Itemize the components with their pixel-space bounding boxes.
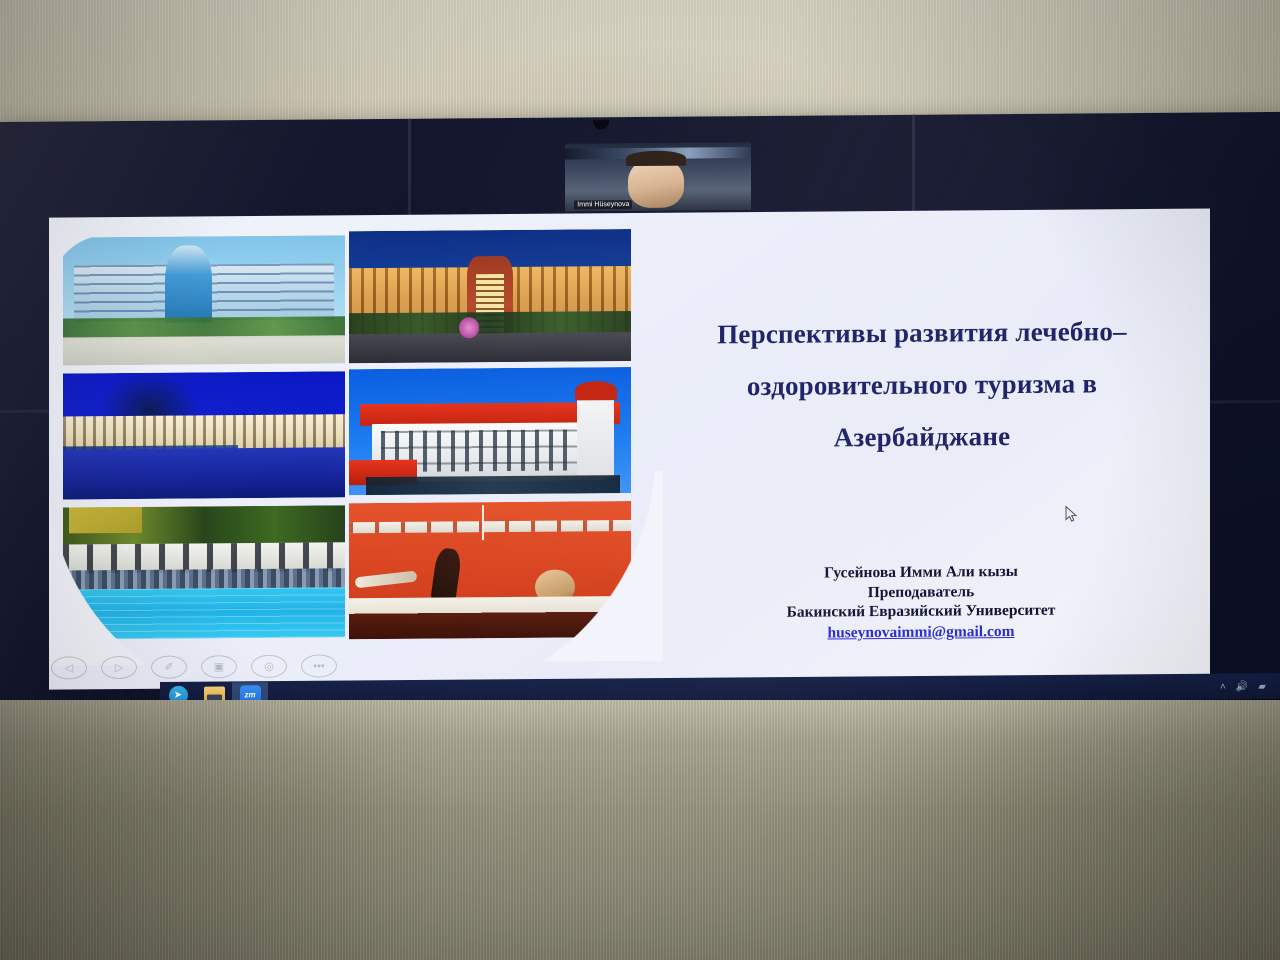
- slide-title-line-3: Азербайджане: [649, 409, 1195, 465]
- video-wall: Immi Hüseynova: [0, 112, 1280, 704]
- powerpoint-slideshow-controls[interactable]: ◁ ▷ ✐ ▣ ◎ •••: [49, 650, 347, 683]
- photo-twilight-resort: [63, 371, 345, 499]
- next-slide-button[interactable]: ▷: [101, 656, 137, 679]
- mouse-cursor: [1065, 505, 1078, 522]
- photo-outdoor-pool: [63, 505, 345, 639]
- show-hidden-icons-icon[interactable]: ˄: [1220, 681, 1226, 692]
- powerpoint-slide[interactable]: Перспективы развития лечебно– оздоровите…: [49, 208, 1210, 689]
- participant-hair: [626, 151, 686, 166]
- slide-author-block: Гусейнова Имми Али кызы Преподаватель Ба…: [671, 561, 1171, 644]
- more-options-button[interactable]: •••: [301, 654, 337, 677]
- network-icon[interactable]: ▰: [1258, 681, 1266, 692]
- system-tray[interactable]: ˄ 🔊 ▰: [1220, 681, 1280, 692]
- author-email-link[interactable]: huseynovaimmi@gmail.com: [671, 620, 1171, 643]
- photo-modern-sanatorium: [63, 235, 345, 365]
- wall-lower-shading: [0, 700, 1280, 960]
- photo-resort-dusk: [349, 229, 631, 363]
- zoom-in-button[interactable]: ◎: [251, 655, 287, 678]
- all-slides-button[interactable]: ▣: [201, 655, 237, 678]
- slide-title-line-2: оздоровительного туризма в: [649, 357, 1195, 413]
- previous-slide-button[interactable]: ◁: [51, 656, 87, 679]
- slide-title: Перспективы развития лечебно– оздоровите…: [649, 305, 1195, 465]
- photo-red-roof-sanatorium: [349, 367, 631, 495]
- conference-room-scene: Immi Hüseynova: [0, 0, 1280, 960]
- author-affiliation: Бакинский Евразийский Университет: [671, 600, 1171, 623]
- photo-naftalan-bath: [349, 501, 631, 639]
- zoom-participant-thumbnail[interactable]: Immi Hüseynova: [565, 142, 751, 211]
- pen-annotation-button[interactable]: ✐: [151, 655, 187, 678]
- slide-photo-collage: [57, 219, 637, 654]
- slide-title-line-1: Перспективы развития лечебно–: [649, 305, 1195, 361]
- volume-icon[interactable]: 🔊: [1236, 681, 1248, 692]
- wall-upper-shading: [0, 0, 1280, 132]
- participant-name-label: Immi Hüseynova: [574, 200, 632, 209]
